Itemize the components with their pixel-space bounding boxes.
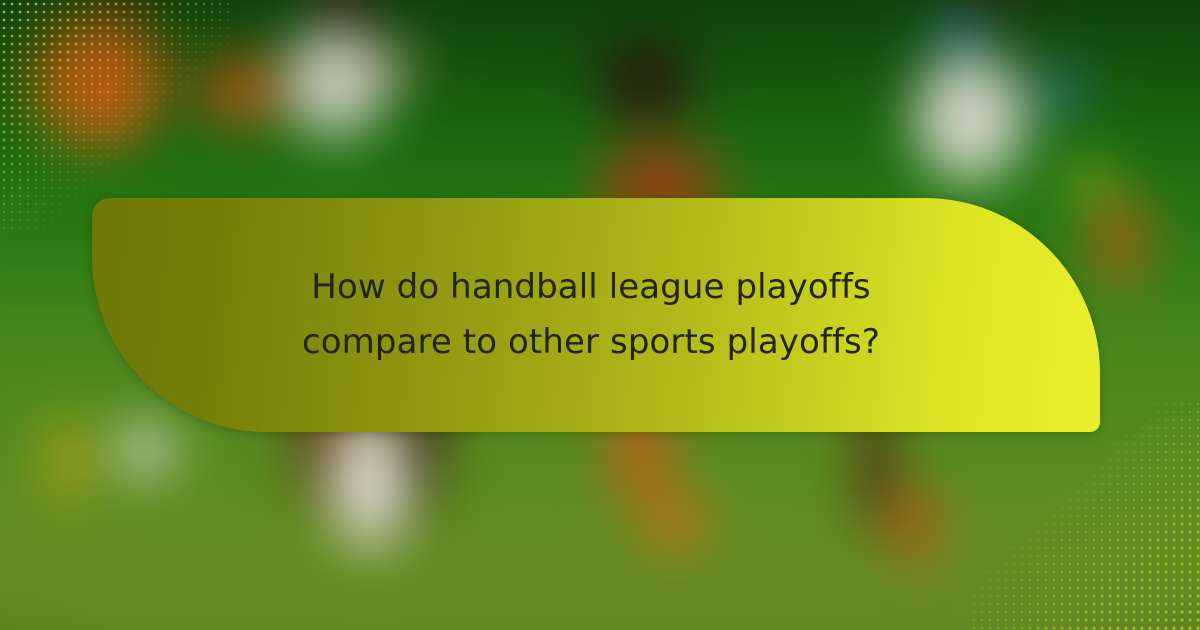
question-title: How do handball league playoffs compare … (232, 260, 950, 370)
question-card: How do handball league playoffs compare … (92, 198, 1100, 432)
halftone-dots-bottom-right (970, 400, 1200, 630)
halftone-dots-top-left (0, 0, 230, 230)
screenshot-canvas: How do handball league playoffs compare … (0, 0, 1200, 630)
